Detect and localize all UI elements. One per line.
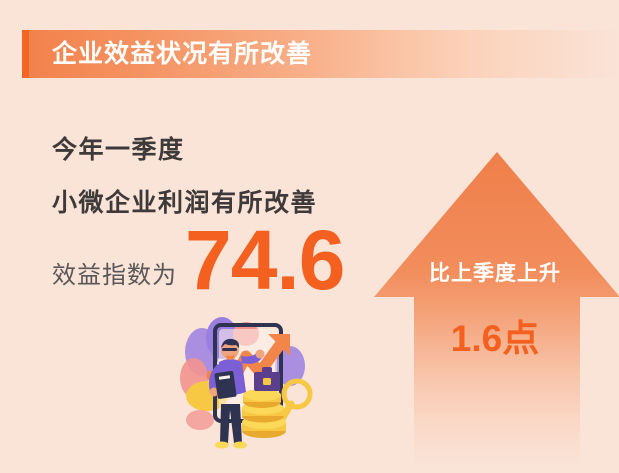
illustration-svg [160,300,350,460]
banner-accent-bar [22,30,29,78]
arrow-delta-value: 1.6点 [370,308,619,362]
index-row: 效益指数为 74.6 [52,222,345,299]
blob-pink-bottom-icon [186,410,214,430]
up-arrow-shape [370,145,619,465]
business-analytics-illustration [160,300,350,460]
index-label: 效益指数为 [52,255,177,299]
up-arrow-graphic: 比上季度上升 1.6点 [370,145,619,465]
index-value: 74.6 [185,222,345,299]
arrow-caption: 比上季度上升 [370,257,619,287]
infographic-poster: 企业效益状况有所改善 比上季度上升 1.6点 今年一季度 小微企业利润有所改善 … [0,0,619,473]
header-banner: 企业效益状况有所改善 [22,30,619,78]
headline-line-1: 今年一季度 [52,130,185,166]
coin-stack-icon [242,389,286,438]
banner-title: 企业效益状况有所改善 [52,30,312,78]
